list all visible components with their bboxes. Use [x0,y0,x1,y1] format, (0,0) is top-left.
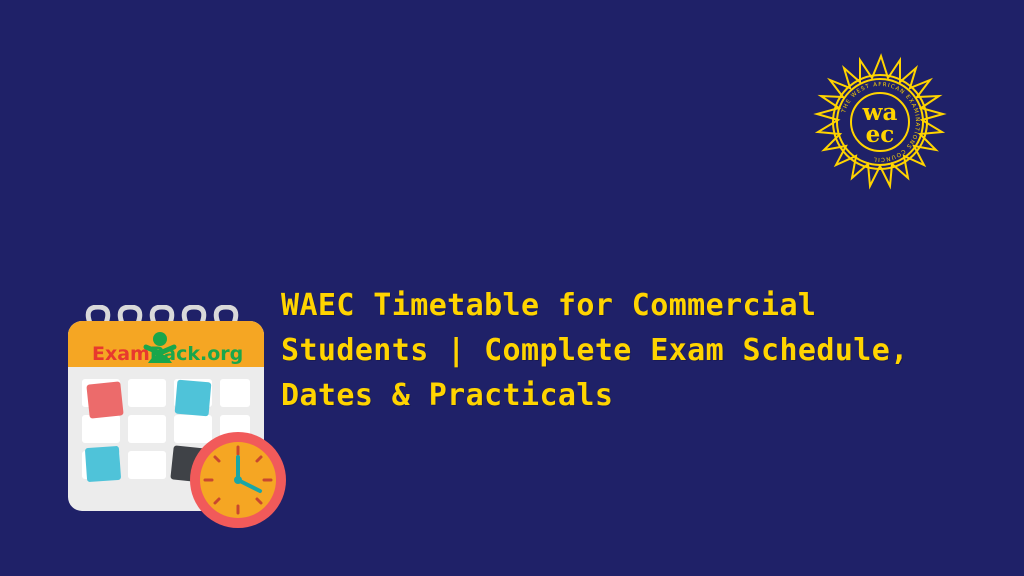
calendar-illustration: ExamPack.org [60,305,310,535]
brand-part-org: .org [200,343,243,365]
logo-text-line2: ec [866,121,895,148]
banner: wa ec THE WEST AFRICAN EXAMINATIONS COUN… [0,0,1024,576]
calendar-note-blue-2 [85,446,121,482]
waec-logo: wa ec THE WEST AFRICAN EXAMINATIONS COUN… [796,52,966,212]
clock-icon [190,432,286,528]
page-title: WAEC Timetable for Commercial Students |… [281,283,961,418]
title-block: WAEC Timetable for Commercial Students |… [281,283,961,418]
waec-logo-svg: wa ec THE WEST AFRICAN EXAMINATIONS COUN… [796,52,966,212]
calendar-note-blue-1 [175,380,212,417]
brand-part-exam: Exam [92,343,150,365]
calendar-rings-icon [88,307,236,323]
calendar-illustration-svg: ExamPack.org [60,305,310,535]
calendar-note-red [86,381,123,418]
